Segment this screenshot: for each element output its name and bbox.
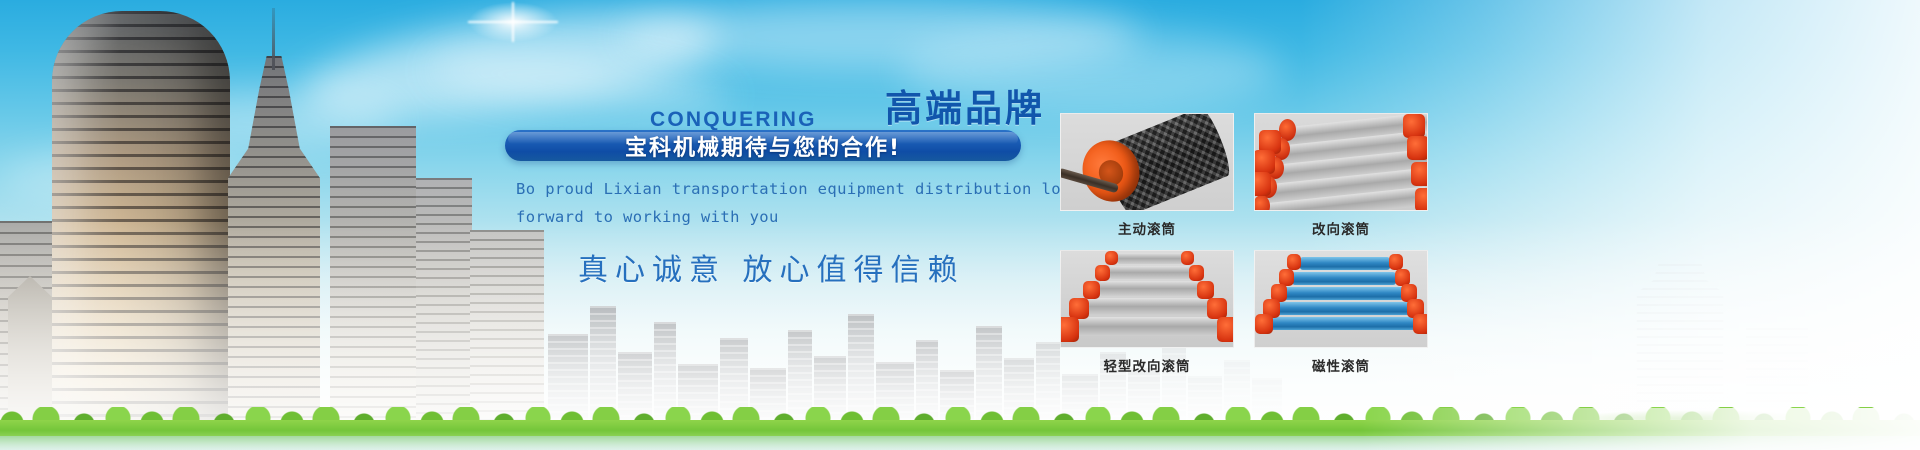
promo-banner: CONQUERING 高端品牌 宝科机械期待与您的合作! Bo proud Li… bbox=[0, 0, 1920, 450]
product-image-light-bend-pulley[interactable] bbox=[1060, 250, 1234, 348]
english-paragraph-line-2: forward to working with you bbox=[516, 208, 779, 226]
product-card-drive-pulley[interactable]: 主动滚筒 bbox=[1060, 113, 1234, 238]
chinese-slogan: 真心诚意 放心值得信赖 bbox=[578, 245, 965, 289]
product-card-magnetic-pulley[interactable]: 磁性滚筒 bbox=[1254, 250, 1428, 375]
headline-conquering: CONQUERING bbox=[650, 108, 817, 132]
product-row: 轻型改向滚筒 bbox=[1060, 250, 1428, 375]
product-caption: 轻型改向滚筒 bbox=[1060, 355, 1234, 375]
slogan-ribbon: 宝科机械期待与您的合作! bbox=[505, 130, 1021, 161]
english-paragraph-line-1: Bo proud Lixian transportation equipment… bbox=[516, 180, 1080, 198]
product-gallery: 主动滚筒 bbox=[1060, 113, 1428, 375]
ribbon-label: 宝科机械期待与您的合作! bbox=[505, 130, 1021, 161]
product-image-drive-pulley[interactable] bbox=[1060, 113, 1234, 211]
product-caption: 磁性滚筒 bbox=[1254, 355, 1428, 375]
copy-block: CONQUERING 高端品牌 宝科机械期待与您的合作! Bo proud Li… bbox=[0, 0, 1060, 450]
product-image-magnetic-pulley[interactable] bbox=[1254, 250, 1428, 348]
product-caption: 主动滚筒 bbox=[1060, 218, 1234, 238]
product-image-bend-pulley[interactable] bbox=[1254, 113, 1428, 211]
brand-chinese-title: 高端品牌 bbox=[885, 78, 1045, 132]
product-row: 主动滚筒 bbox=[1060, 113, 1428, 238]
product-caption: 改向滚筒 bbox=[1254, 218, 1428, 238]
grass-fade-overlay bbox=[1360, 408, 1920, 450]
product-card-light-bend-pulley[interactable]: 轻型改向滚筒 bbox=[1060, 250, 1234, 375]
product-card-bend-pulley[interactable]: 改向滚筒 bbox=[1254, 113, 1428, 238]
